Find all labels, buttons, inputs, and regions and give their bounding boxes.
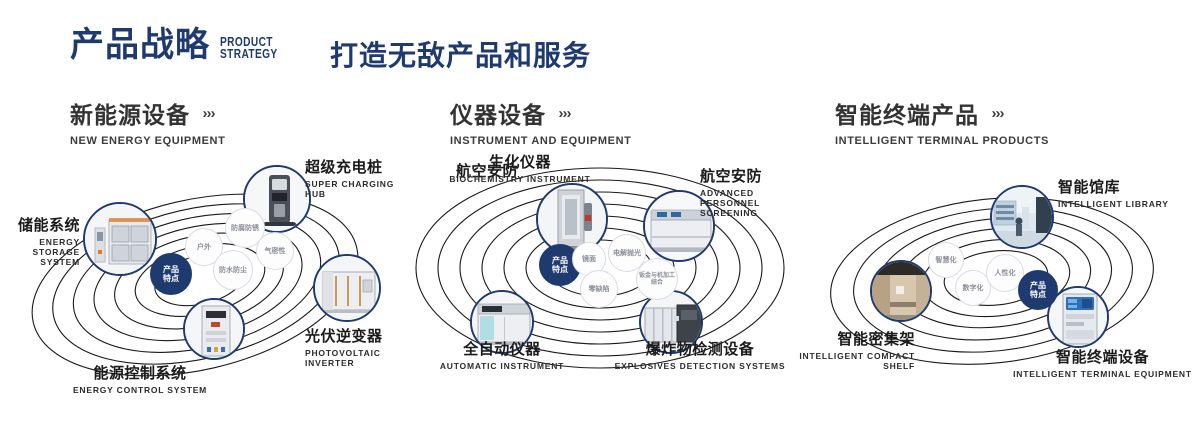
core-bubble-line1: 产品: [163, 265, 179, 274]
caption-energy-control: 能源控制系统 ENERGY CONTROL SYSTEM: [40, 362, 240, 395]
caption-charging-pile: 超级充电桩 SUPER CHARGING HUB: [305, 156, 415, 199]
caption-automatic-instrument: 全自动仪器 AUTOMATIC INSTRUMENT: [412, 338, 592, 371]
core-bubble-line2: 特点: [552, 265, 568, 274]
section-heading-cn: 新能源设备: [70, 96, 190, 130]
feature-bubble-sheetmetal-machining: 钣金与机加工结合: [636, 258, 678, 300]
node-pv-inverter[interactable]: [313, 254, 381, 322]
caption-cn: 智能馆库: [1058, 176, 1198, 197]
caption-en: ENERGY STORAGE SYSTEM: [0, 237, 80, 267]
page-subtitle: 打造无敌产品和服务: [330, 34, 591, 74]
caption-cn: 爆炸物检测设备: [600, 338, 800, 359]
diagram-instrument: 航空安防 生化仪器 BIOCHEMISTRY INSTRUMENT 航空安: [400, 150, 800, 422]
pv-inverter-cabinet-icon: [315, 256, 379, 320]
section-heading-intelligent-terminal: 智能终端产品 ››› INTELLIGENT TERMINAL PRODUCTS: [835, 96, 1049, 147]
section-heading-en: NEW ENERGY EQUIPMENT: [70, 135, 225, 147]
caption-en: INTELLIGENT LIBRARY: [1058, 199, 1198, 209]
caption-cn: 智能密集架: [790, 328, 915, 349]
caption-en: BIOCHEMISTRY INSTRUMENT: [440, 174, 600, 184]
product-strategy-poster: 产品战略 PRODUCT STRATEGY 打造无敌产品和服务 新能源设备 ››…: [0, 0, 1200, 422]
node-energy-control[interactable]: [183, 298, 245, 360]
section-heading-cn: 仪器设备: [450, 96, 546, 130]
self-service-kiosk-icon: [1049, 288, 1107, 346]
section-heading-cn: 智能终端产品: [835, 96, 979, 130]
node-energy-storage[interactable]: [83, 202, 157, 276]
caption-en: AUTOMATIC INSTRUMENT: [412, 361, 592, 371]
feature-bubble-airtight: 气密性: [256, 232, 294, 270]
core-bubble-product-features: 产品 特点: [150, 253, 192, 295]
chevrons-right-icon: ›››: [558, 105, 570, 122]
caption-en: EXPLOSIVES DETECTION SYSTEMS: [600, 361, 800, 371]
caption-cn: 能源控制系统: [40, 362, 240, 383]
caption-en: INTELLIGENT COMPACT SHELF: [790, 351, 915, 371]
core-bubble-line1: 产品: [1030, 281, 1046, 290]
compact-shelving-icon: [872, 262, 930, 320]
caption-compact-shelf: 智能密集架 INTELLIGENT COMPACT SHELF: [790, 328, 915, 371]
diagram-new-energy: 储能系统 ENERGY STORAGE SYSTEM 超级充电桩 SUPER C…: [0, 150, 400, 422]
caption-en: INTELLIGENT TERMINAL EQUIPMENT: [1005, 369, 1200, 379]
page-title-en-line2: STRATEGY: [220, 48, 278, 60]
section-heading-en: INTELLIGENT TERMINAL PRODUCTS: [835, 135, 1049, 147]
caption-en: ENERGY CONTROL SYSTEM: [40, 385, 240, 395]
chevrons-right-icon: ›››: [202, 105, 214, 122]
feature-bubble-intelligent: 智慧化: [928, 242, 964, 278]
core-bubble-line1: 产品: [552, 256, 568, 265]
chevrons-right-icon: ›››: [991, 105, 1003, 122]
caption-en: SUPER CHARGING HUB: [305, 179, 415, 199]
core-bubble-product-features: 产品 特点: [1018, 270, 1058, 310]
main-title-group: 产品战略 PRODUCT STRATEGY: [70, 28, 294, 62]
feature-bubble-waterproof: 防水防尘: [213, 250, 253, 290]
caption-explosives-detection: 爆炸物检测设备 EXPLOSIVES DETECTION SYSTEMS: [600, 338, 800, 371]
core-bubble-line2: 特点: [163, 274, 179, 283]
section-heading-new-energy: 新能源设备 ››› NEW ENERGY EQUIPMENT: [70, 96, 225, 147]
caption-energy-storage: 储能系统 ENERGY STORAGE SYSTEM: [0, 214, 80, 267]
energy-storage-cabinet-icon: [85, 204, 155, 274]
caption-cn: 储能系统: [0, 214, 80, 235]
node-intelligent-library[interactable]: [990, 185, 1054, 249]
caption-personnel-screening: 航空安防 ADVANCED PERSONNEL SCREENING: [700, 165, 815, 218]
section-heading-instrument: 仪器设备 ››› INSTRUMENT AND EQUIPMENT: [450, 96, 631, 147]
control-cabinet-icon: [185, 300, 243, 358]
caption-cn: 航空安防: [700, 165, 815, 186]
caption-en: ADVANCED PERSONNEL SCREENING: [700, 188, 815, 218]
node-compact-shelf[interactable]: [870, 260, 932, 322]
page-title-english: PRODUCT STRATEGY: [220, 36, 278, 60]
caption-cn: 全自动仪器: [412, 338, 592, 359]
diagram-intelligent-terminal: 智能馆库 INTELLIGENT LIBRARY 智能密集架 INTEL: [800, 150, 1200, 422]
caption-intelligent-library: 智能馆库 INTELLIGENT LIBRARY: [1058, 176, 1198, 209]
caption-cn: 生化仪器: [440, 151, 600, 172]
core-bubble-line2: 特点: [1030, 290, 1046, 299]
caption-terminal-equipment: 智能终端设备 INTELLIGENT TERMINAL EQUIPMENT: [1005, 346, 1200, 379]
page-title: 产品战略: [70, 28, 210, 62]
smart-library-room-icon: [992, 187, 1052, 247]
caption-cn: 智能终端设备: [1005, 346, 1200, 367]
caption-biochemistry-instrument: 生化仪器 BIOCHEMISTRY INSTRUMENT: [440, 151, 600, 184]
feature-bubble-zero-defect: 零缺陷: [580, 270, 618, 308]
caption-cn: 超级充电桩: [305, 156, 415, 177]
section-heading-en: INSTRUMENT AND EQUIPMENT: [450, 135, 631, 147]
